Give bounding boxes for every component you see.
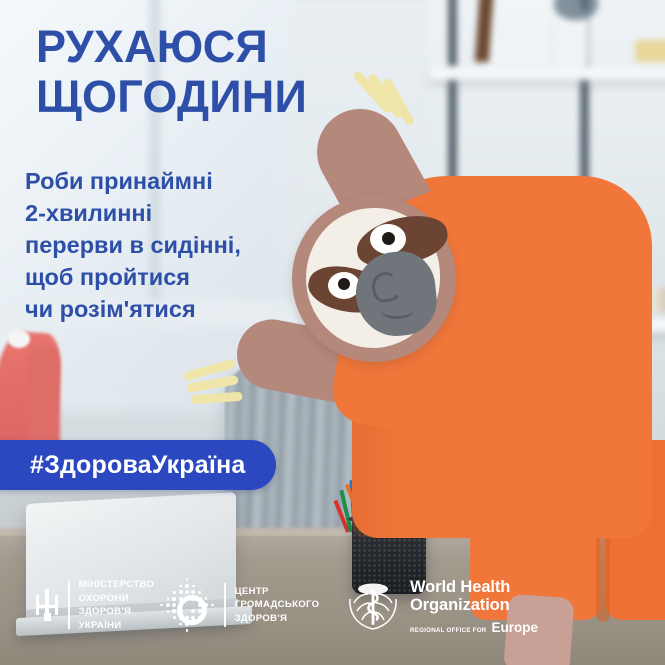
- claw-lower-3: [190, 392, 243, 405]
- diamond-dot: [198, 616, 201, 619]
- dotted-diamond-icon: [158, 576, 216, 634]
- diamond-dot: [191, 590, 195, 594]
- diamond-dot: [179, 616, 183, 620]
- diamond-dot: [198, 597, 202, 601]
- diamond-dot: [172, 603, 176, 607]
- hashtag-label: #ЗдороваУкраїна: [30, 451, 246, 480]
- ministry-line-1: МІНІСТЕРСТВО: [79, 578, 155, 592]
- sloth-mouth: [380, 300, 414, 319]
- diamond-dot: [179, 597, 183, 601]
- trident-part-4: [36, 605, 58, 608]
- diamond-dot: [205, 610, 208, 613]
- hashtag-badge[interactable]: #ЗдороваУкраїна: [0, 440, 276, 490]
- cph-line-3: ЗДОРОВ'Я: [235, 612, 320, 626]
- diamond-dot: [211, 604, 214, 607]
- cph-line-1: ЦЕНТР: [235, 585, 320, 599]
- ministry-of-health-logo: МІНІСТЕРСТВО ОХОРОНИ ЗДОРОВ'Я УКРАЇНИ: [36, 578, 154, 632]
- ministry-logo-text: МІНІСТЕРСТВО ОХОРОНИ ЗДОРОВ'Я УКРАЇНИ: [79, 578, 155, 632]
- who-name-line-1: World Health: [410, 578, 538, 596]
- logo-divider: [68, 581, 70, 629]
- diamond-dot: [173, 616, 176, 619]
- diamond-dot: [172, 597, 176, 601]
- headline-line-1: РУХАЮСЯ: [36, 22, 406, 72]
- diamond-dot: [205, 597, 208, 600]
- ministry-line-4: УКРАЇНИ: [79, 619, 155, 633]
- diamond-dot: [186, 578, 189, 581]
- body-line-5: чи розім'ятися: [25, 294, 335, 326]
- who-region-line: REGIONAL OFFICE FOR Europe: [410, 620, 538, 635]
- diamond-dot: [160, 604, 163, 607]
- who-name-line-2: Organization: [410, 596, 538, 614]
- sloth-pupil-left: [338, 278, 350, 290]
- diamond-dot: [204, 603, 208, 607]
- headline-line-2: ЩОГОДИНИ: [36, 72, 406, 122]
- diamond-dot: [172, 609, 176, 613]
- who-region-prefix: REGIONAL OFFICE FOR: [410, 627, 486, 634]
- body-line-4: щоб пройтися: [25, 262, 335, 294]
- who-logo: World Health Organization REGIONAL OFFIC…: [345, 578, 538, 635]
- public-health-center-logo: ЦЕНТР ГРОМАДСЬКОГО ЗДОРОВ'Я: [158, 576, 319, 634]
- body-line-2: 2-хвилинні: [25, 198, 335, 230]
- sloth-pupil-right: [382, 232, 395, 245]
- ministry-line-3: ЗДОРОВ'Я: [79, 605, 155, 619]
- headline: РУХАЮСЯ ЩОГОДИНИ: [36, 22, 406, 123]
- body-line-3: перерви в сидінні,: [25, 230, 335, 262]
- body-line-1: Роби принаймні: [25, 166, 335, 198]
- who-region-name: Europe: [491, 620, 538, 635]
- diamond-dot: [167, 610, 170, 613]
- diamond-dot: [198, 603, 202, 607]
- who-rod-of-asclepius-icon: [345, 579, 401, 633]
- logo-bar: МІНІСТЕРСТВО ОХОРОНИ ЗДОРОВ'Я УКРАЇНИ ЦЕ…: [0, 576, 665, 648]
- logo-divider: [224, 583, 226, 627]
- diamond-dot: [179, 590, 183, 594]
- trident-part-5: [44, 613, 51, 621]
- diamond-dot: [185, 616, 189, 620]
- diamond-dot: [179, 623, 182, 626]
- ukraine-trident-icon: [36, 589, 58, 621]
- body-text: Роби принаймні 2-хвилинні перерви в сиді…: [25, 166, 335, 326]
- diamond-dot: [186, 629, 189, 632]
- diamond-dot: [192, 623, 195, 626]
- diamond-dot: [166, 603, 170, 607]
- diamond-dot: [179, 585, 182, 588]
- who-logo-text: World Health Organization REGIONAL OFFIC…: [410, 578, 538, 635]
- poster-canvas: РУХАЮСЯ ЩОГОДИНИ Роби принаймні 2-хвилин…: [0, 0, 665, 665]
- diamond-dot: [198, 591, 201, 594]
- ministry-line-2: ОХОРОНИ: [79, 592, 155, 606]
- diamond-dot: [167, 597, 170, 600]
- cph-line-2: ГРОМАДСЬКОГО: [235, 598, 320, 612]
- diamond-dot: [185, 590, 189, 594]
- diamond-dot: [185, 622, 189, 626]
- diamond-dot: [192, 585, 195, 588]
- cph-logo-text: ЦЕНТР ГРОМАДСЬКОГО ЗДОРОВ'Я: [235, 585, 320, 626]
- diamond-dot: [173, 591, 176, 594]
- diamond-dot: [185, 584, 189, 588]
